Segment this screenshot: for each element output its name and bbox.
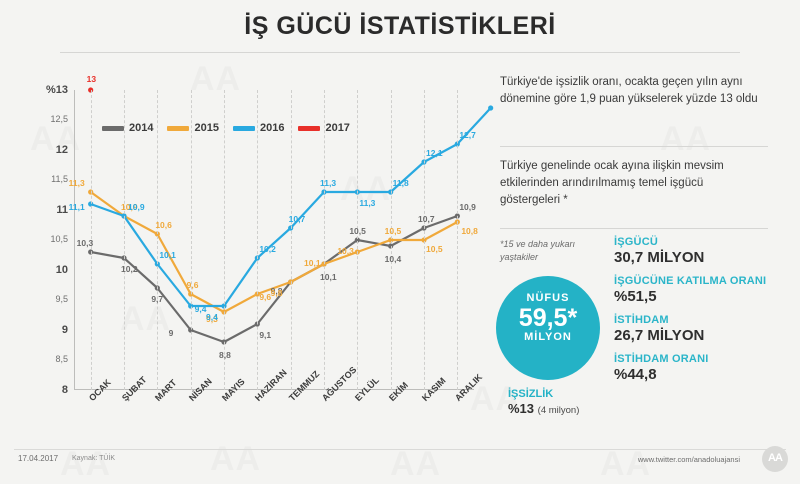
legend-label: 2016 — [260, 122, 284, 134]
y-axis-tick: 8 — [34, 384, 68, 396]
data-point-label: 10,2 — [259, 244, 276, 254]
population-value: 59,5* — [496, 305, 600, 331]
chart-plot-area: 88,599,51010,51111,51212,5%13OCAKŞUBATMA… — [74, 90, 474, 390]
unemployment-value: %13 — [508, 401, 534, 416]
data-point-label: 10,8 — [461, 226, 478, 236]
population-unit: MİLYON — [496, 331, 600, 343]
title-divider — [60, 52, 740, 53]
y-axis-tick: 10 — [34, 264, 68, 276]
data-point-label: 13 — [87, 74, 96, 84]
y-axis-tick: 8,5 — [34, 354, 68, 364]
stat-label: İSTİHDAM ORANI — [614, 353, 794, 365]
summary-text: Türkiye'de işsizlik oranı, ocakta geçen … — [500, 74, 785, 108]
footer-twitter: www.twitter.com/anadoluajansi — [638, 455, 740, 464]
stat-value: %51,5 — [614, 288, 794, 305]
footer-date: 17.04.2017 — [18, 454, 58, 463]
data-point-label: 10,9 — [128, 202, 145, 212]
gridline — [257, 90, 258, 390]
y-axis-tick: 12,5 — [34, 114, 68, 124]
y-axis-tick: 11,5 — [34, 174, 68, 184]
y-axis-tick: %13 — [34, 84, 68, 96]
stat-item: İSTİHDAM ORANI%44,8 — [614, 353, 794, 383]
unemployment-sub: (4 milyon) — [538, 405, 580, 416]
legend-label: 2015 — [194, 122, 218, 134]
stat-label: İSTİHDAM — [614, 314, 794, 326]
stat-item: İSTİHDAM26,7 MİLYON — [614, 314, 794, 344]
data-point-label: 10,3 — [77, 238, 94, 248]
footer-source: Kaynak: TÜİK — [72, 455, 115, 462]
data-point-label: 10,1 — [304, 258, 321, 268]
gridline — [191, 90, 192, 390]
page-title: İŞ GÜCÜ İSTATİSTİKLERİ — [0, 12, 800, 41]
y-axis-tick: 11 — [34, 204, 68, 216]
data-point-label: 10,1 — [159, 250, 176, 260]
right-divider-2 — [500, 228, 768, 229]
data-point-label: 10,5 — [426, 244, 443, 254]
data-point-label: 10,6 — [155, 220, 172, 230]
population-label: NÜFUS — [496, 292, 600, 304]
gridline — [157, 90, 158, 390]
stat-value: 30,7 MİLYON — [614, 249, 794, 266]
legend-swatch — [298, 126, 320, 131]
data-point-label: 10,9 — [459, 202, 476, 212]
legend-swatch — [167, 126, 189, 131]
chart-lines — [74, 90, 474, 390]
chart-legend: 2014201520162017 — [102, 122, 350, 134]
gridline — [357, 90, 358, 390]
indicator-paragraph: Türkiye genelinde ocak ayına ilişkin mev… — [500, 158, 750, 209]
aa-logo-text: AA — [764, 452, 786, 464]
data-point-label: 9 — [169, 328, 174, 338]
data-point-label: 12,7 — [459, 130, 476, 140]
data-point-label: 10,1 — [320, 272, 337, 282]
line-chart: 88,599,51010,51111,51212,5%13OCAKŞUBATMA… — [22, 70, 492, 415]
y-axis-tick: 10,5 — [34, 234, 68, 244]
legend-swatch — [102, 126, 124, 131]
y-axis-tick: 12 — [34, 144, 68, 156]
stat-label: İŞGÜCÜ — [614, 236, 794, 248]
data-point-label: 9,6 — [259, 292, 271, 302]
gridline — [291, 90, 292, 390]
data-point-label: 9,6 — [187, 280, 199, 290]
data-point-label: 9,8 — [271, 288, 283, 298]
data-point-label: 9,7 — [151, 294, 163, 304]
data-point-label: 12,1 — [426, 148, 443, 158]
data-point-label: 10,4 — [385, 254, 402, 264]
population-circle: NÜFUS 59,5* MİLYON — [496, 276, 600, 380]
data-point-label: 8,8 — [219, 350, 231, 360]
y-axis-tick: 9,5 — [34, 294, 68, 304]
indicator-pre: Türkiye genelinde — [500, 160, 594, 172]
gridline — [224, 90, 225, 390]
data-point-label: 9,1 — [259, 330, 271, 340]
data-point-label: 9,4 — [206, 312, 218, 322]
y-axis-tick: 9 — [34, 324, 68, 336]
legend-item-2016: 2016 — [233, 122, 284, 134]
summary-paragraph: Türkiye'de işsizlik oranı, ocakta geçen … — [500, 74, 785, 108]
unemployment-label: İŞSİZLİK — [508, 388, 618, 400]
stats-list: İŞGÜCÜ30,7 MİLYONİŞGÜCÜNE KATILMA ORANI%… — [614, 236, 794, 392]
stat-item: İŞGÜCÜNE KATILMA ORANI%51,5 — [614, 275, 794, 305]
data-point-label: 11,8 — [393, 178, 409, 188]
data-point-label: 10,7 — [289, 214, 306, 224]
legend-item-2017: 2017 — [298, 122, 349, 134]
legend-item-2014: 2014 — [102, 122, 153, 134]
stat-value: %44,8 — [614, 366, 794, 383]
data-point-label: 9,4 — [195, 304, 207, 314]
legend-item-2015: 2015 — [167, 122, 218, 134]
data-point-label: 11,3 — [69, 178, 85, 188]
data-point-label: 11,3 — [359, 198, 375, 208]
aa-logo: AA — [746, 444, 788, 474]
gridline — [424, 90, 425, 390]
gridline — [124, 90, 125, 390]
legend-label: 2017 — [325, 122, 349, 134]
footer: 17.04.2017 Kaynak: TÜİK www.twitter.com/… — [0, 450, 800, 474]
infographic-page: AA AA AA AA AA AA AA AA AA AA İŞ GÜCÜ İS… — [0, 0, 800, 484]
stat-label: İŞGÜCÜNE KATILMA ORANI — [614, 275, 794, 287]
legend-swatch — [233, 126, 255, 131]
data-point-label: 10,2 — [121, 264, 138, 274]
gridline — [391, 90, 392, 390]
data-point-label: 11,3 — [320, 178, 336, 188]
legend-label: 2014 — [129, 122, 153, 134]
gridline — [324, 90, 325, 390]
data-point-label: 10,5 — [385, 226, 402, 236]
unemployment-block: İŞSİZLİK %13 (4 milyon) — [508, 388, 618, 416]
gridline — [457, 90, 458, 390]
stat-item: İŞGÜCÜ30,7 MİLYON — [614, 236, 794, 266]
data-point-label: 10,3 — [337, 246, 354, 256]
stat-value: 26,7 MİLYON — [614, 327, 794, 344]
data-point-label: 11,1 — [69, 202, 85, 212]
data-point-label: 10,7 — [418, 214, 435, 224]
right-divider-1 — [500, 146, 768, 147]
data-point-label: 10,5 — [349, 226, 366, 236]
indicator-bold: ocak — [594, 160, 618, 172]
age-note: *15 ve daha yukarı yaştakiler — [500, 238, 610, 264]
